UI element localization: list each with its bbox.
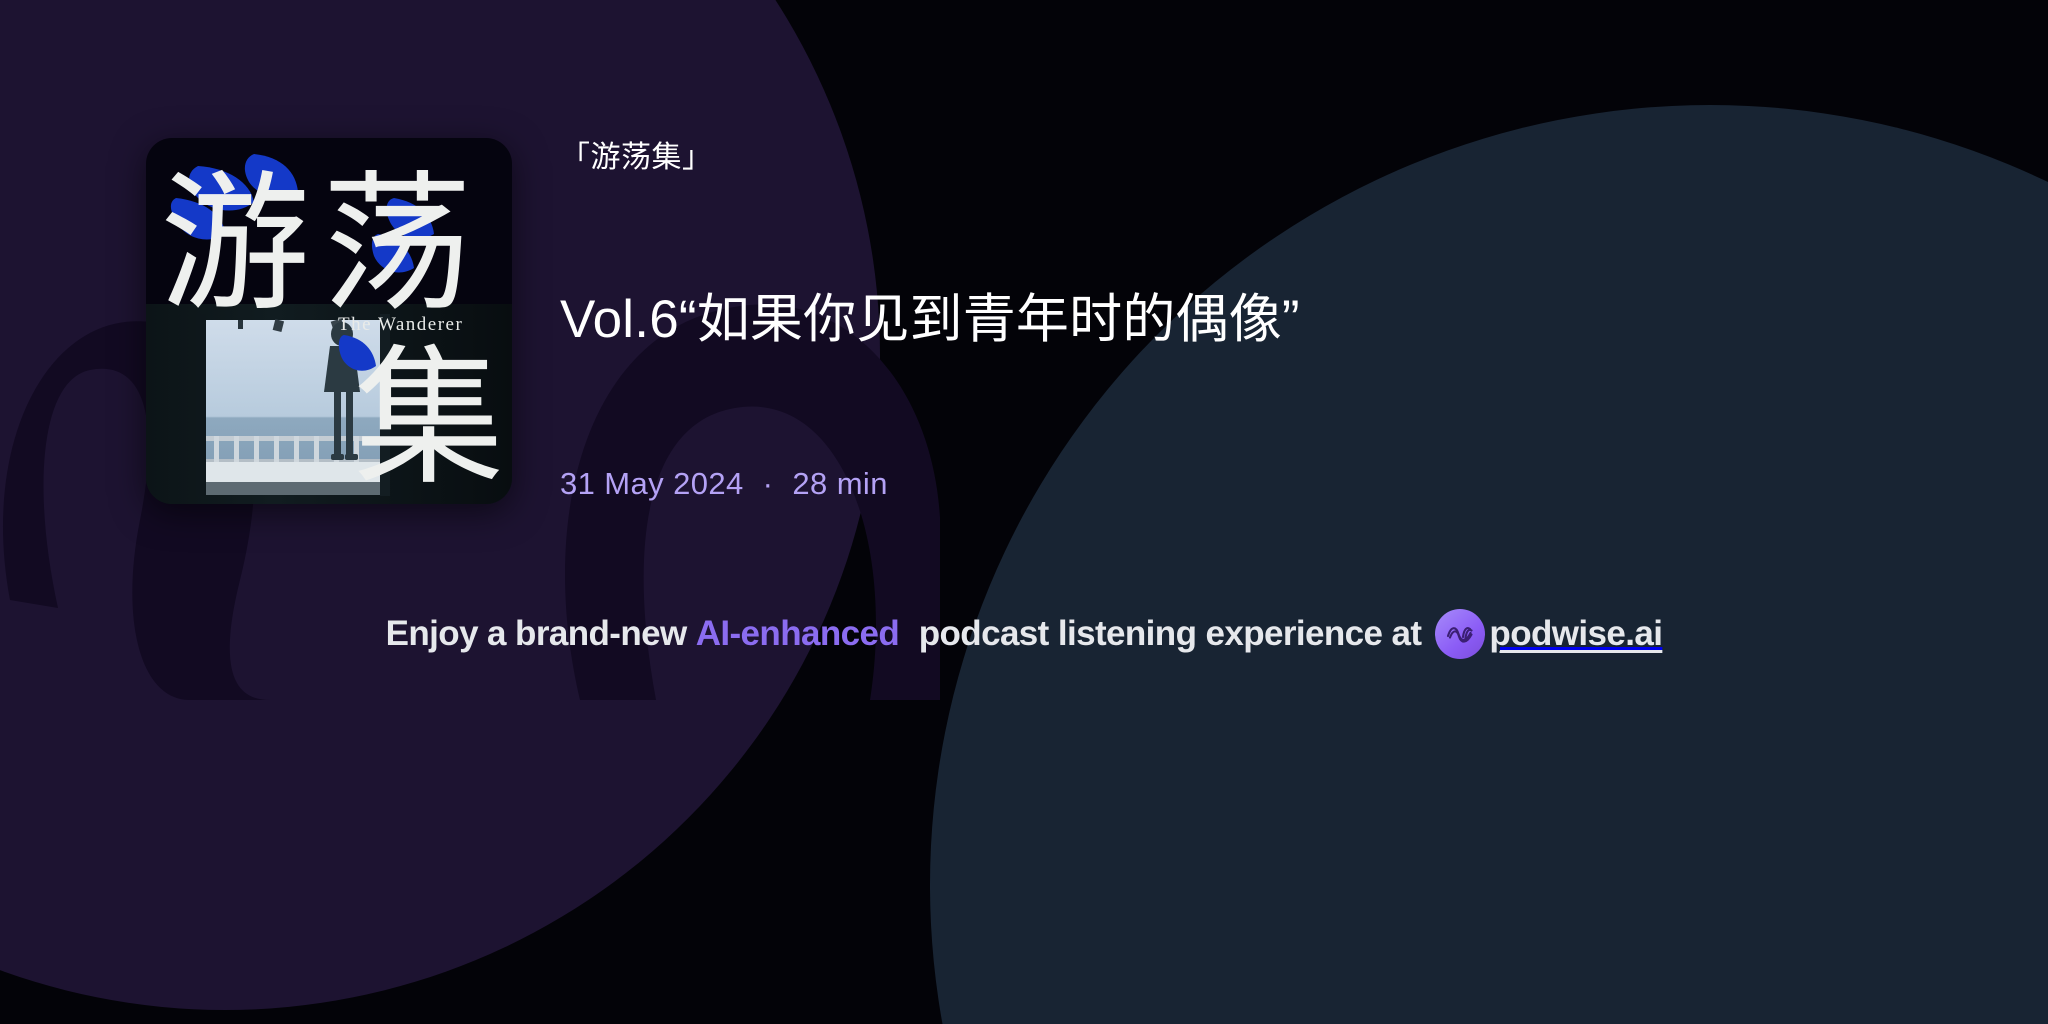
promo-lead: Enjoy a brand-new bbox=[386, 614, 687, 654]
podwise-brand-name[interactable]: podwise.ai bbox=[1489, 614, 1662, 654]
episode-title: Vol.6“如果你见到青年时的偶像” bbox=[560, 284, 1980, 356]
episode-meta: 31 May 2024 · 28 min bbox=[560, 466, 888, 502]
podcast-cover-art[interactable]: 游 荡 集 The Wanderer bbox=[146, 138, 512, 504]
episode-date: 31 May 2024 bbox=[560, 466, 744, 501]
podwise-link[interactable]: podwise.ai bbox=[1435, 609, 1662, 659]
slate-circle-shape bbox=[930, 105, 2048, 1024]
cover-char-ji: 集 bbox=[354, 337, 500, 503]
cover-char-you: 游 bbox=[160, 163, 305, 329]
promo-tail: podcast listening experience at bbox=[909, 614, 1421, 654]
meta-separator: · bbox=[753, 466, 784, 501]
podcast-share-card: 游 荡 集 The Wanderer 「游荡集」 Vol.6“如果你见到青年时的… bbox=[0, 0, 2048, 1024]
promo-footer: Enjoy a brand-new AI-enhanced podcast li… bbox=[0, 604, 2048, 664]
podcast-name[interactable]: 「游荡集」 bbox=[560, 138, 1960, 177]
podwise-wave-logo-icon bbox=[1435, 609, 1485, 659]
cover-typography: 游 荡 集 The Wanderer bbox=[146, 138, 512, 504]
cover-char-dang: 荡 bbox=[322, 163, 466, 329]
episode-duration: 28 min bbox=[792, 466, 887, 501]
promo-highlight: AI-enhanced bbox=[687, 614, 909, 654]
cover-latin-subtitle: The Wanderer bbox=[338, 314, 463, 335]
promo-text: Enjoy a brand-new AI-enhanced podcast li… bbox=[386, 614, 1422, 654]
episode-info-block: 「游荡集」 bbox=[560, 138, 1960, 177]
